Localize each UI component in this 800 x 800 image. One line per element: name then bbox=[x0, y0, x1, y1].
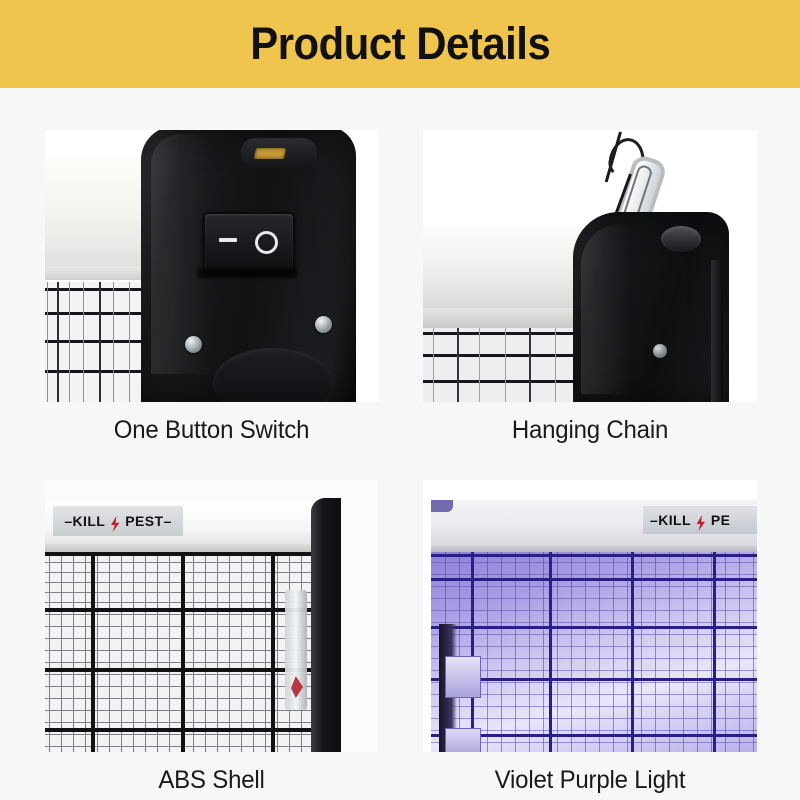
shell-top-edge bbox=[45, 544, 341, 552]
hanging-ring bbox=[661, 226, 701, 252]
uv-lamp-bracket-upper bbox=[445, 656, 481, 698]
feature-caption-abs-shell: ABS Shell bbox=[52, 766, 372, 795]
screw bbox=[653, 344, 667, 358]
photo-abs-shell: – KILL PEST – bbox=[45, 480, 378, 752]
black-side-rail bbox=[311, 498, 341, 752]
brand-label: – KILL PEST – bbox=[53, 506, 183, 536]
abs-end-cap bbox=[573, 212, 729, 402]
switch-on-symbol bbox=[255, 231, 278, 254]
page-title: Product Details bbox=[250, 18, 550, 70]
switch-off-symbol bbox=[219, 238, 237, 242]
feature-cell-violet-purple-light: – KILL PE bbox=[423, 480, 757, 752]
feature-cell-hanging-chain: Hanging Chain bbox=[423, 130, 757, 400]
screw-right bbox=[315, 316, 332, 333]
switch-recess-shadow bbox=[197, 268, 297, 278]
feature-grid: One Button Switch bbox=[0, 88, 800, 800]
screw-left bbox=[185, 336, 202, 353]
brand-dash-right: – bbox=[163, 513, 171, 529]
photo-violet-purple-light: – KILL PE bbox=[423, 480, 757, 752]
brand-dash-left: – bbox=[650, 512, 658, 528]
brand-word-kill: KILL bbox=[73, 513, 106, 529]
feature-caption-hanging-chain: Hanging Chain bbox=[430, 416, 751, 445]
brand-dash-left: – bbox=[64, 513, 72, 529]
top-vent bbox=[241, 138, 317, 168]
photo-hanging-chain bbox=[423, 130, 757, 402]
power-rocker-switch[interactable] bbox=[203, 212, 295, 272]
uv-illuminated-grid bbox=[431, 552, 757, 752]
vent-slot bbox=[254, 148, 286, 159]
feature-cell-one-button-switch: One Button Switch bbox=[45, 130, 378, 400]
product-details-infographic: Product Details bbox=[0, 0, 800, 800]
lightning-bolt-icon bbox=[694, 515, 708, 531]
feature-caption-one-button-switch: One Button Switch bbox=[52, 416, 372, 445]
end-cap-edge bbox=[711, 260, 723, 402]
brand-word-pe: PE bbox=[711, 512, 730, 528]
brand-label: – KILL PE bbox=[643, 506, 757, 534]
photo-one-button-switch bbox=[45, 130, 378, 402]
brand-word-pest: PEST bbox=[125, 513, 163, 529]
header-banner: Product Details bbox=[0, 0, 800, 88]
lightning-bolt-icon bbox=[108, 516, 122, 532]
feature-cell-abs-shell: – KILL PEST – bbox=[45, 480, 378, 752]
uv-lamp-bracket-lower bbox=[445, 728, 481, 752]
feature-caption-violet-purple-light: Violet Purple Light bbox=[430, 766, 751, 795]
top-left-corner bbox=[431, 500, 453, 512]
brand-word-kill: KILL bbox=[658, 512, 691, 528]
